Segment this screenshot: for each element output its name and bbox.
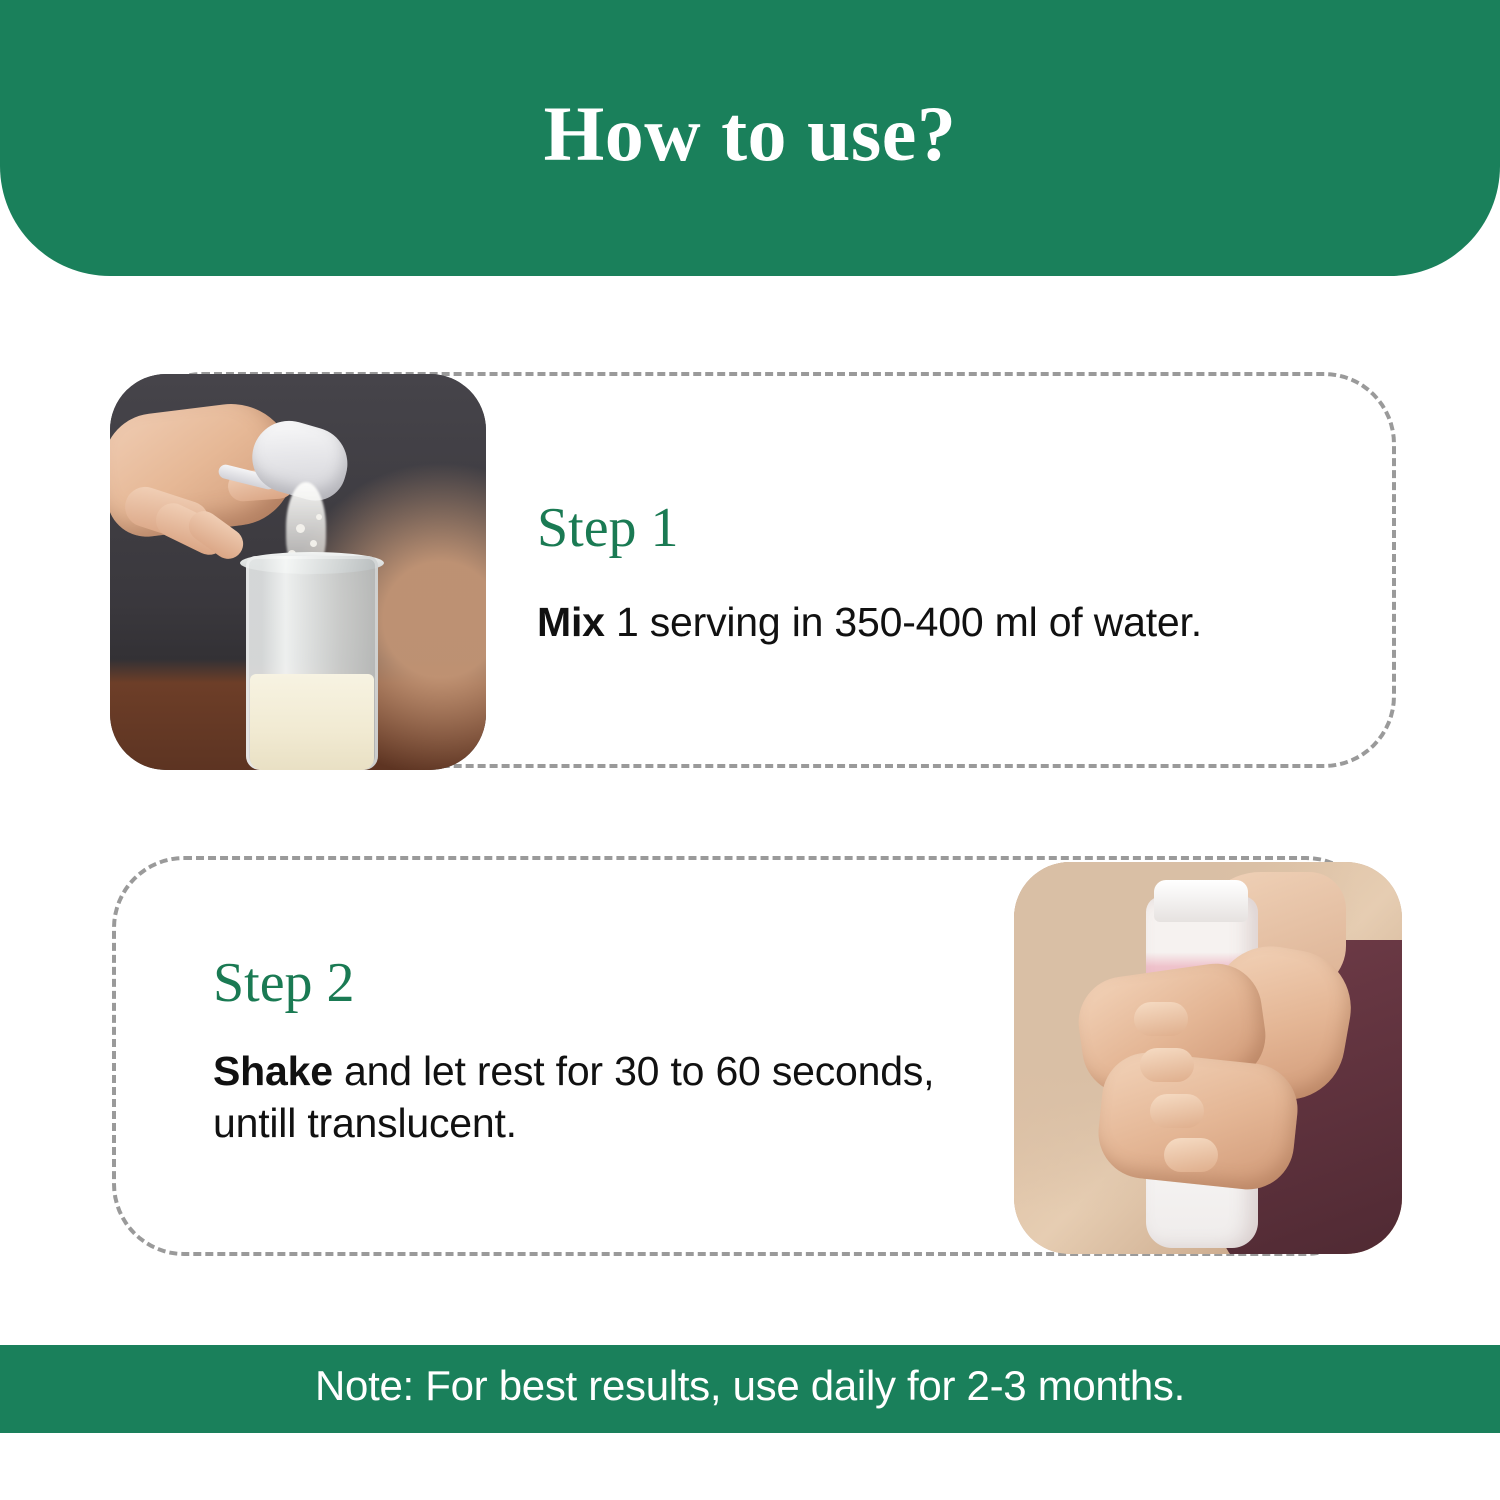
powder-grain bbox=[316, 514, 322, 520]
step-1-heading: Step 1 bbox=[537, 500, 679, 556]
step-2-heading: Step 2 bbox=[213, 955, 355, 1011]
bottle-cap-shape bbox=[1154, 880, 1248, 922]
step-2-image bbox=[1014, 862, 1402, 1254]
powder-grain bbox=[296, 524, 305, 533]
knuckle-shape bbox=[1164, 1138, 1218, 1172]
footer-note: Note: For best results, use daily for 2-… bbox=[0, 1365, 1500, 1407]
step-1-image bbox=[110, 374, 486, 770]
step-1-description: Mix 1 serving in 350-400 ml of water. bbox=[537, 596, 1417, 648]
step-1-rest-text: 1 serving in 350-400 ml of water. bbox=[605, 599, 1202, 645]
knuckle-shape bbox=[1140, 1048, 1194, 1082]
step-2-lead-word: Shake bbox=[213, 1048, 333, 1094]
powder-grain bbox=[310, 540, 317, 547]
knuckle-shape bbox=[1150, 1094, 1204, 1128]
step-2-description: Shake and let rest for 30 to 60 seconds,… bbox=[213, 1045, 953, 1150]
knuckle-shape bbox=[1134, 1002, 1188, 1036]
page-title: How to use? bbox=[0, 95, 1500, 173]
liquid-shape bbox=[250, 674, 374, 770]
step-1-lead-word: Mix bbox=[537, 599, 605, 645]
